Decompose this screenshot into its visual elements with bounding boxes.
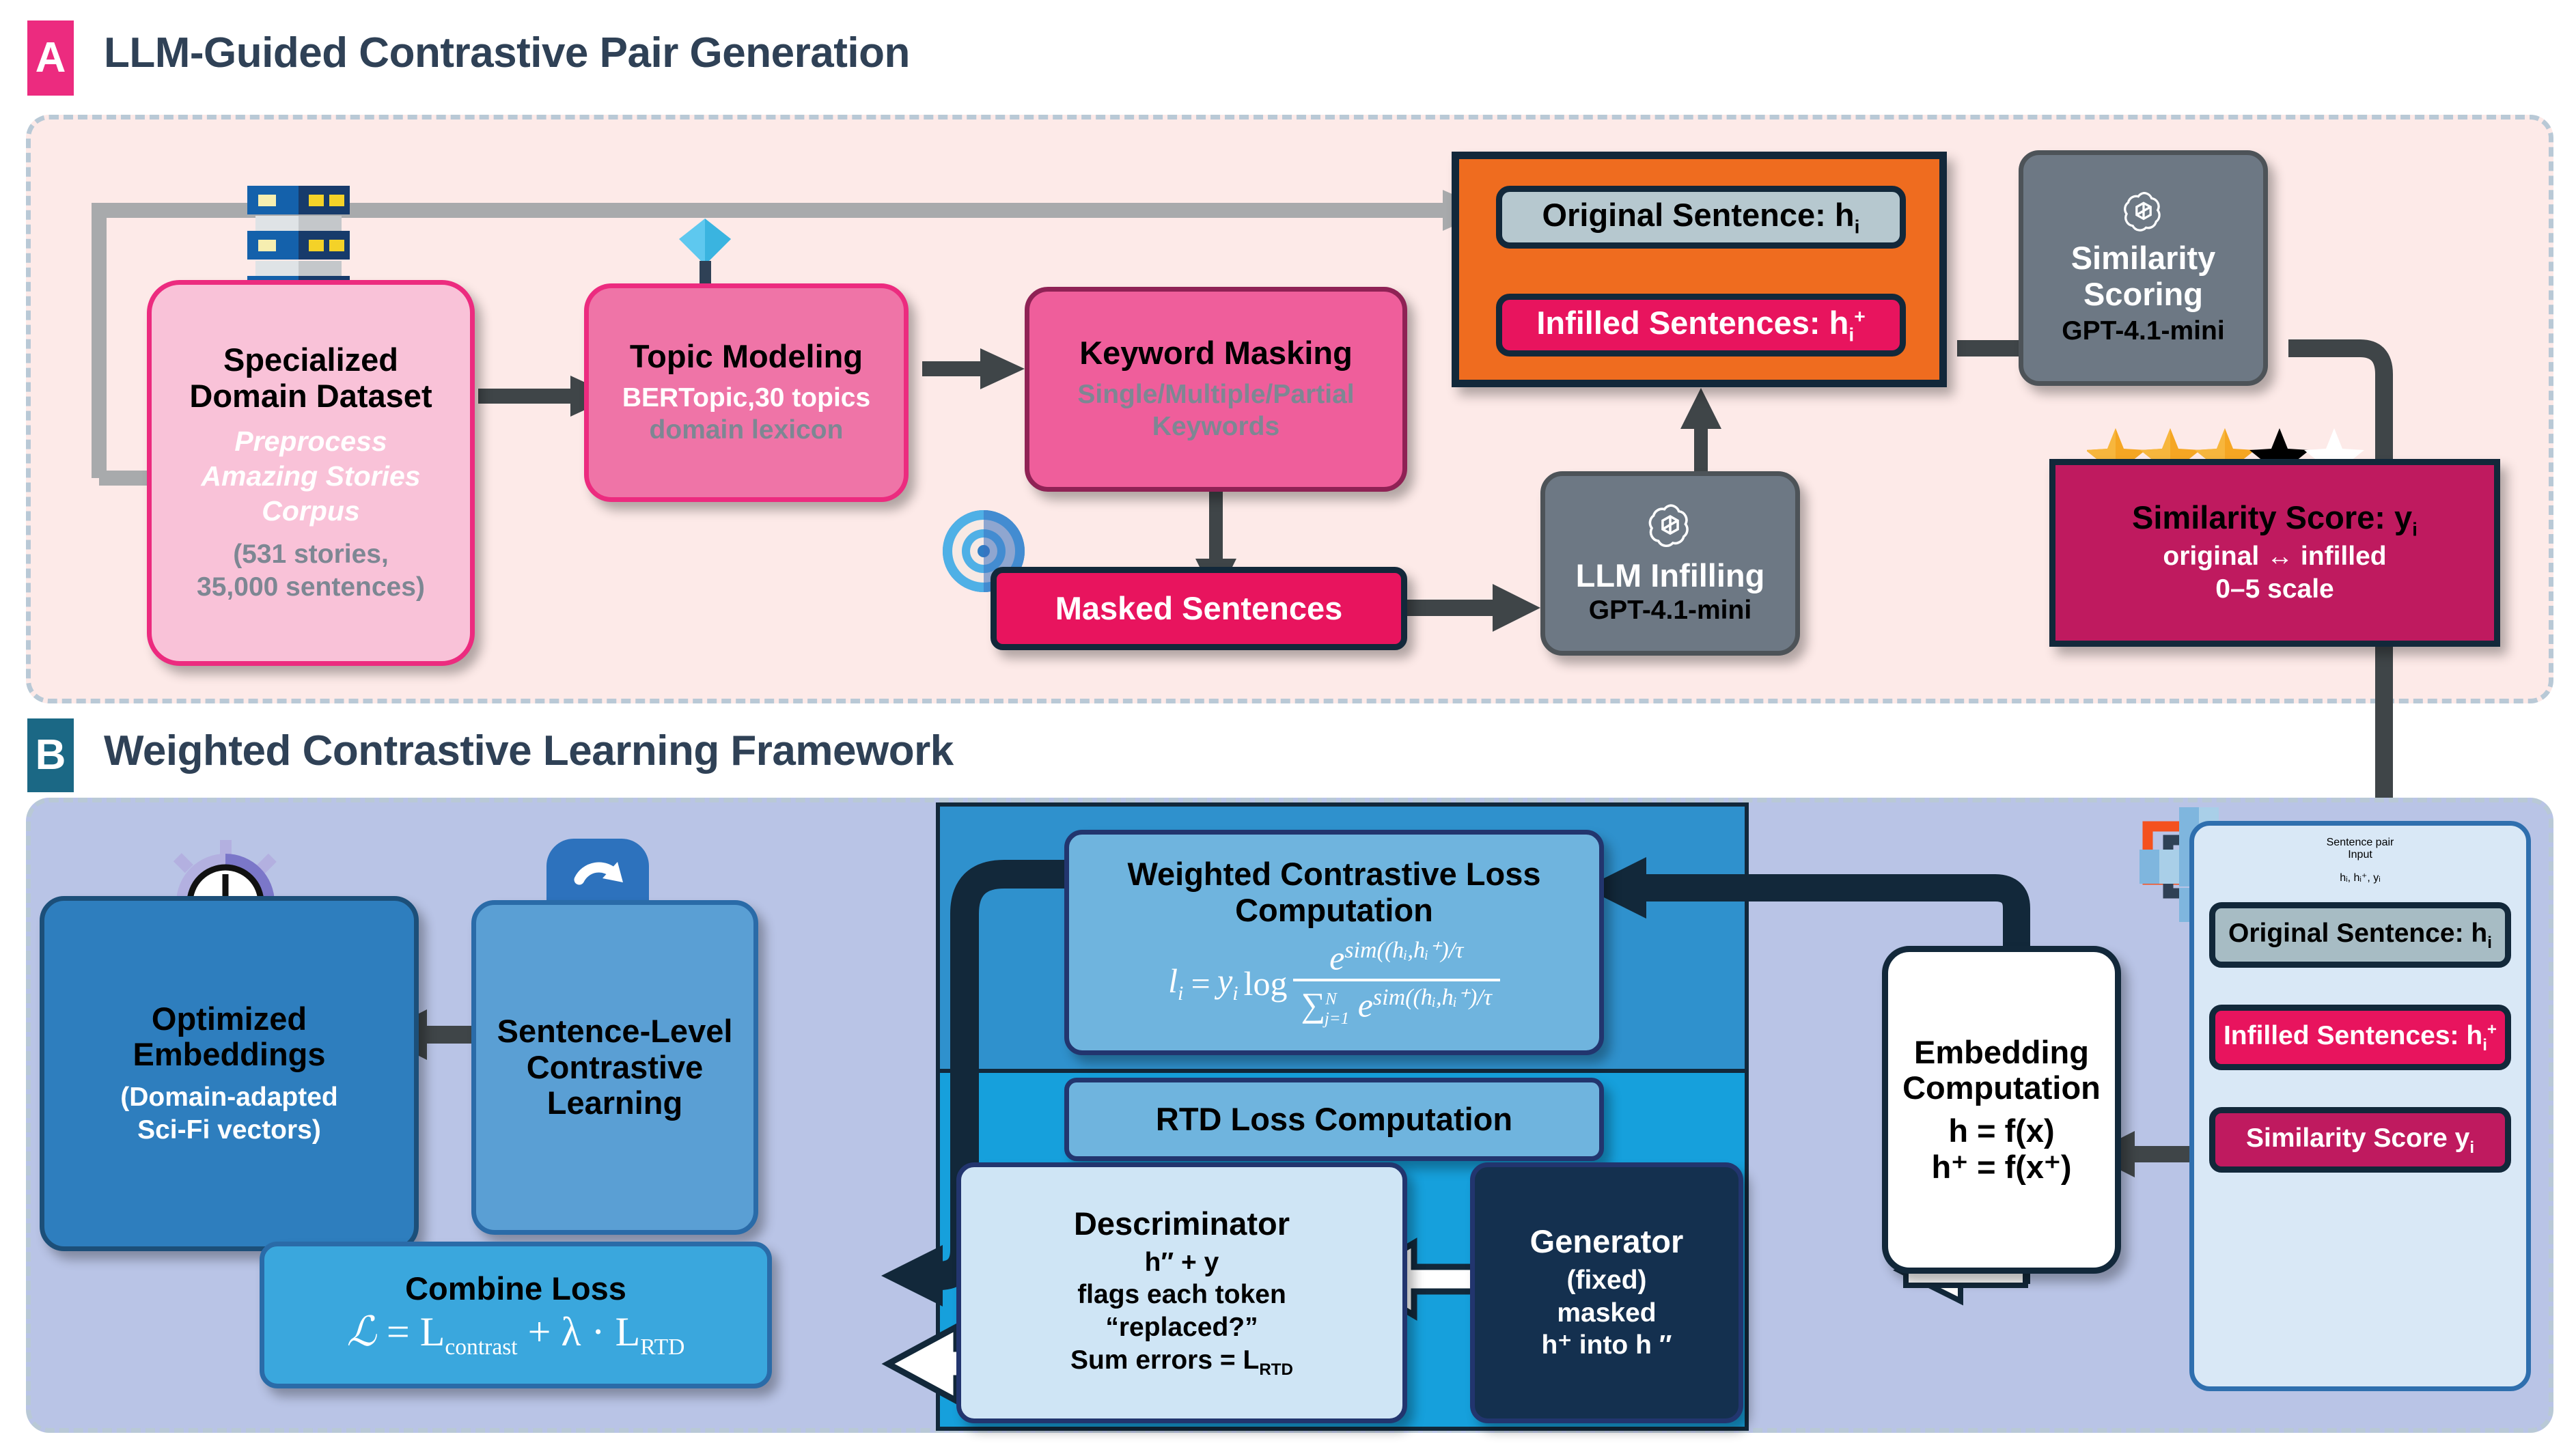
sentence-level-contrastive-node[interactable]: Sentence-Level Contrastive Learning: [471, 900, 758, 1235]
infilled-sentences-label: Infilled Sentences: hi+: [1536, 305, 1865, 346]
optimized-embeddings-node[interactable]: Optimized Embeddings (Domain-adapted Sci…: [40, 896, 419, 1251]
descriminator-line2: flags each token: [1077, 1278, 1286, 1311]
generator-title: Generator: [1530, 1224, 1684, 1260]
descriminator-line1: h″ + y: [1145, 1246, 1219, 1279]
topic-modeling-title: Topic Modeling: [630, 339, 863, 375]
similarity-score-line2: original ↔ infilled: [2163, 540, 2386, 573]
sentence-pair-sub: hᵢ, hᵢ⁺, yᵢ: [2340, 871, 2381, 884]
optimized-embeddings-title-2: Embeddings: [133, 1037, 325, 1073]
original-sentence-chip[interactable]: Original Sentence: hi: [1496, 186, 1906, 249]
dataset-title-line2: Domain Dataset: [189, 378, 432, 415]
descriminator-title: Descriminator: [1074, 1206, 1290, 1242]
optimized-embeddings-sub-1: (Domain-adapted: [120, 1081, 338, 1114]
generator-line3: h⁺ into h ″: [1542, 1329, 1672, 1362]
llm-infilling-title: LLM Infilling: [1576, 558, 1765, 594]
llm-infilling-node[interactable]: LLM Infilling GPT-4.1-mini: [1540, 471, 1800, 656]
list-item-label: Infilled Sentences: hi+: [2224, 1020, 2497, 1055]
llm-infilling-model: GPT-4.1-mini: [1589, 594, 1751, 627]
descriminator-line3: “replaced?”: [1105, 1311, 1258, 1344]
panel-b-badge: B: [27, 718, 74, 792]
dataset-sub-1: Preprocess: [234, 424, 387, 459]
sentence-pair-title-1: Sentence pair: [2327, 837, 2394, 849]
list-item[interactable]: Infilled Sentences: hi+: [2209, 1005, 2511, 1070]
infilled-sentences-chip[interactable]: Infilled Sentences: hi+: [1496, 294, 1906, 356]
dataset-sub-2: Amazing Stories: [201, 459, 420, 494]
list-item[interactable]: Original Sentence: hi: [2209, 902, 2511, 968]
descriminator-node[interactable]: Descriminator h″ + y flags each token “r…: [956, 1162, 1407, 1423]
optimized-embeddings-title-1: Optimized: [152, 1001, 307, 1037]
openai-icon: [2119, 188, 2168, 238]
embedding-computation-line4: h⁺ = f(x⁺): [1932, 1149, 2072, 1186]
openai-icon: [1644, 501, 1697, 554]
list-item-label: Original Sentence: hi: [2228, 917, 2492, 953]
sentence-level-line1: Sentence-Level: [497, 1013, 733, 1050]
panel-b-title: Weighted Contrastive Learning Framework: [104, 727, 954, 775]
specialized-domain-dataset-node[interactable]: Specialized Domain Dataset Preprocess Am…: [147, 280, 475, 666]
similarity-score-title: Similarity Score: yi: [2132, 500, 2418, 540]
topic-modeling-sub-white: BERTopic,30 topics: [622, 382, 870, 415]
list-item-label: Similarity Score yi: [2246, 1122, 2474, 1158]
rtd-loss-node[interactable]: RTD Loss Computation: [1064, 1078, 1604, 1161]
embedding-computation-title-2: Computation: [1902, 1070, 2101, 1106]
combine-loss-title: Combine Loss: [405, 1271, 626, 1307]
embedding-computation-title-1: Embedding: [1914, 1035, 2089, 1071]
similarity-score-line3: 0–5 scale: [2215, 573, 2334, 606]
sentence-pair-input-node[interactable]: Sentence pair Input hᵢ, hᵢ⁺, yᵢ Original…: [2189, 821, 2531, 1391]
combine-loss-node[interactable]: Combine Loss ℒ = Lcontrast + λ · LRTD: [260, 1242, 772, 1388]
similarity-scoring-model: GPT-4.1-mini: [2062, 315, 2224, 348]
embedding-computation-line3: h = f(x): [1948, 1113, 2054, 1149]
original-sentence-label: Original Sentence: hi: [1542, 197, 1860, 238]
sentence-level-line2: Contrastive: [527, 1050, 704, 1086]
topic-modeling-node[interactable]: Topic Modeling BERTopic,30 topics domain…: [584, 283, 909, 502]
combine-loss-formula: ℒ = Lcontrast + λ · LRTD: [347, 1311, 685, 1359]
generator-line1: (fixed): [1567, 1264, 1647, 1297]
dataset-count-line1: (531 stories,: [233, 538, 389, 571]
sentence-pair-title-2: Input: [2348, 849, 2372, 861]
weighted-loss-formula: li = yi log esim((hᵢ,hᵢ⁺)/τ ∑Nj=1 esim((…: [1168, 938, 1500, 1029]
similarity-scoring-title-2: Scoring: [2083, 277, 2203, 313]
masked-sentences-label: Masked Sentences: [1055, 591, 1343, 627]
weighted-loss-title-1: Weighted Contrastive Loss: [1127, 856, 1540, 893]
rtd-loss-title: RTD Loss Computation: [1156, 1102, 1512, 1138]
similarity-scoring-node[interactable]: Similarity Scoring GPT-4.1-mini: [2019, 150, 2268, 386]
dataset-sub-3: Corpus: [262, 494, 360, 529]
keyword-masking-node[interactable]: Keyword Masking Single/Multiple/Partial …: [1025, 287, 1407, 492]
embedding-computation-node[interactable]: Embedding Computation h = f(x) h⁺ = f(x⁺…: [1882, 946, 2121, 1274]
keyword-masking-title: Keyword Masking: [1079, 335, 1353, 372]
similarity-score-node[interactable]: Similarity Score: yi original ↔ infilled…: [2049, 459, 2500, 647]
dataset-count-line2: 35,000 sentences): [197, 571, 425, 604]
optimized-embeddings-sub-2: Sci-Fi vectors): [137, 1114, 321, 1147]
similarity-scoring-title-1: Similarity: [2071, 240, 2216, 277]
keyword-masking-sub-1: Single/Multiple/Partial: [1077, 378, 1354, 411]
dataset-title-line1: Specialized: [223, 342, 398, 378]
descriminator-line4: Sum errors = LRTD: [1070, 1344, 1293, 1380]
generator-line2: masked: [1557, 1297, 1656, 1330]
weighted-contrastive-loss-node[interactable]: Weighted Contrastive Loss Computation li…: [1064, 830, 1604, 1055]
generator-node[interactable]: Generator (fixed) masked h⁺ into h ″: [1470, 1162, 1743, 1423]
weighted-loss-title-2: Computation: [1235, 893, 1433, 929]
panel-a-badge: A: [27, 20, 74, 96]
sentence-level-line3: Learning: [547, 1085, 682, 1121]
panel-a-title: LLM-Guided Contrastive Pair Generation: [104, 29, 910, 77]
masked-sentences-node[interactable]: Masked Sentences: [991, 567, 1407, 650]
list-item[interactable]: Similarity Score yi: [2209, 1107, 2511, 1173]
keyword-masking-sub-2: Keywords: [1152, 410, 1279, 443]
topic-modeling-sub-grey: domain lexicon: [650, 414, 844, 447]
